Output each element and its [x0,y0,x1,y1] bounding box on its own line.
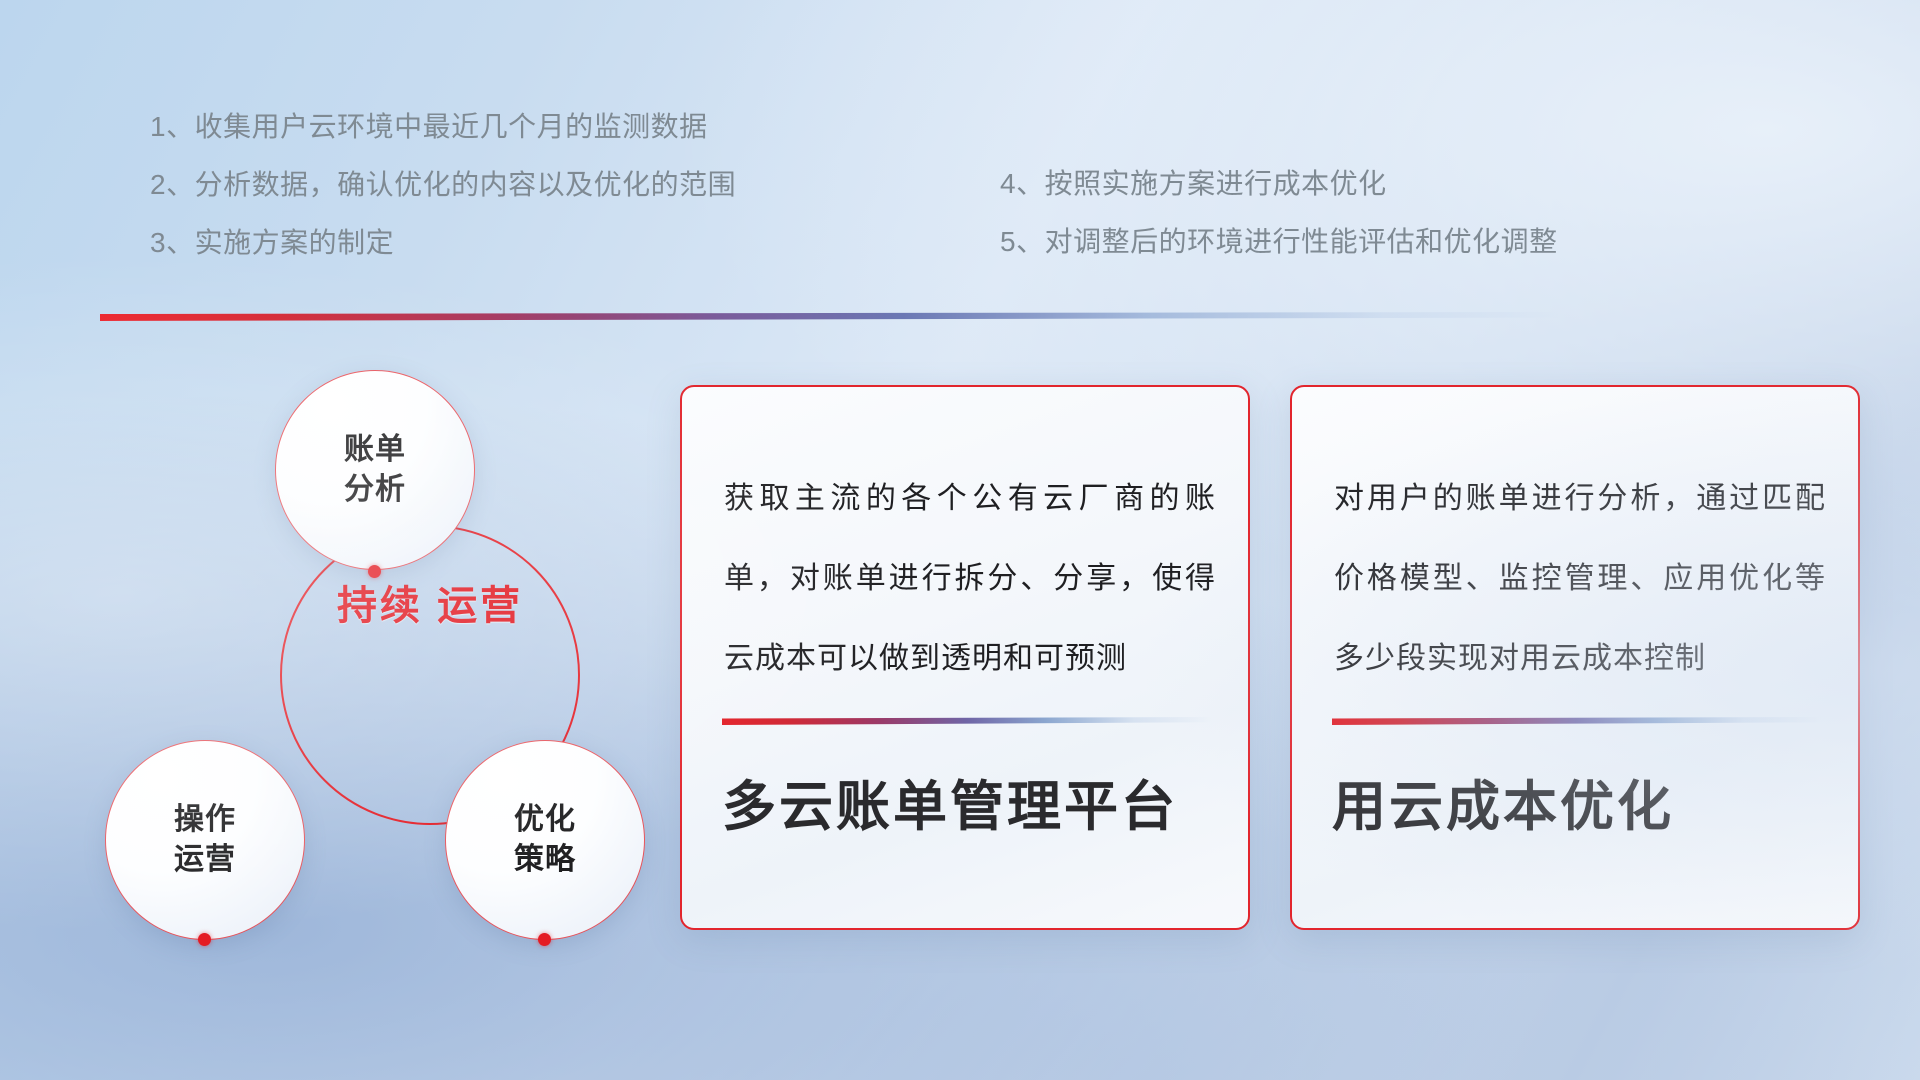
card-divider [722,717,1212,725]
slide-canvas: 1、收集用户云环境中最近几个月的监测数据 2、分析数据，确认优化的内容以及优化的… [0,0,1920,1080]
venn-center-line-2: 运营 [437,584,523,628]
feature-card-multicloud-billing[interactable]: 获取主流的各个公有云厂商的账单，对账单进行拆分、分享，使得云成本可以做到透明和可… [680,385,1250,930]
card-divider [1332,717,1822,725]
venn-bubble-optimization-strategy[interactable]: 优化 策略 [445,740,645,940]
card-body-text: 获取主流的各个公有云厂商的账单，对账单进行拆分、分享，使得云成本可以做到透明和可… [724,459,1216,699]
step-item-5: 5、对调整后的环境进行性能评估和优化调整 [1000,213,1558,271]
card-title: 用云成本优化 [1332,772,1828,842]
venn-bubble-bill-analysis[interactable]: 账单 分析 [275,370,475,570]
card-title: 多云账单管理平台 [722,772,1218,842]
venn-bubble-operations[interactable]: 操作 运营 [105,740,305,940]
venn-node-dot-left [198,933,211,946]
venn-node-dot-right [538,933,551,946]
venn-bubble-right-line-2: 策略 [514,840,576,880]
steps-list-left: 1、收集用户云环境中最近几个月的监测数据 2、分析数据，确认优化的内容以及优化的… [150,98,736,272]
step-item-1: 1、收集用户云环境中最近几个月的监测数据 [150,98,736,156]
step-item-2: 2、分析数据，确认优化的内容以及优化的范围 [150,156,736,214]
venn-bubble-left-line-1: 操作 [174,800,236,840]
venn-center-label: 持续 运营 [280,580,580,632]
step-item-3: 3、实施方案的制定 [150,214,736,272]
card-body-text: 对用户的账单进行分析，通过匹配价格模型、监控管理、应用优化等多少段实现对用云成本… [1334,459,1826,699]
venn-node-dot-top [368,565,381,578]
venn-bubble-left-line-2: 运营 [174,840,236,880]
steps-list-right: 4、按照实施方案进行成本优化 5、对调整后的环境进行性能评估和优化调整 [1000,155,1558,271]
step-item-4: 4、按照实施方案进行成本优化 [1000,155,1558,213]
divider-bar [100,312,1560,321]
venn-center-line-1: 持续 [337,584,423,628]
feature-card-cloud-cost-optimization[interactable]: 对用户的账单进行分析，通过匹配价格模型、监控管理、应用优化等多少段实现对用云成本… [1290,385,1860,930]
venn-diagram: 持续 运营 账单 分析 操作 运营 优化 策略 [95,350,655,930]
venn-bubble-top-line-2: 分析 [344,470,406,510]
venn-bubble-right-line-1: 优化 [514,800,576,840]
section-divider [100,312,1560,321]
venn-bubble-top-line-1: 账单 [344,430,406,470]
